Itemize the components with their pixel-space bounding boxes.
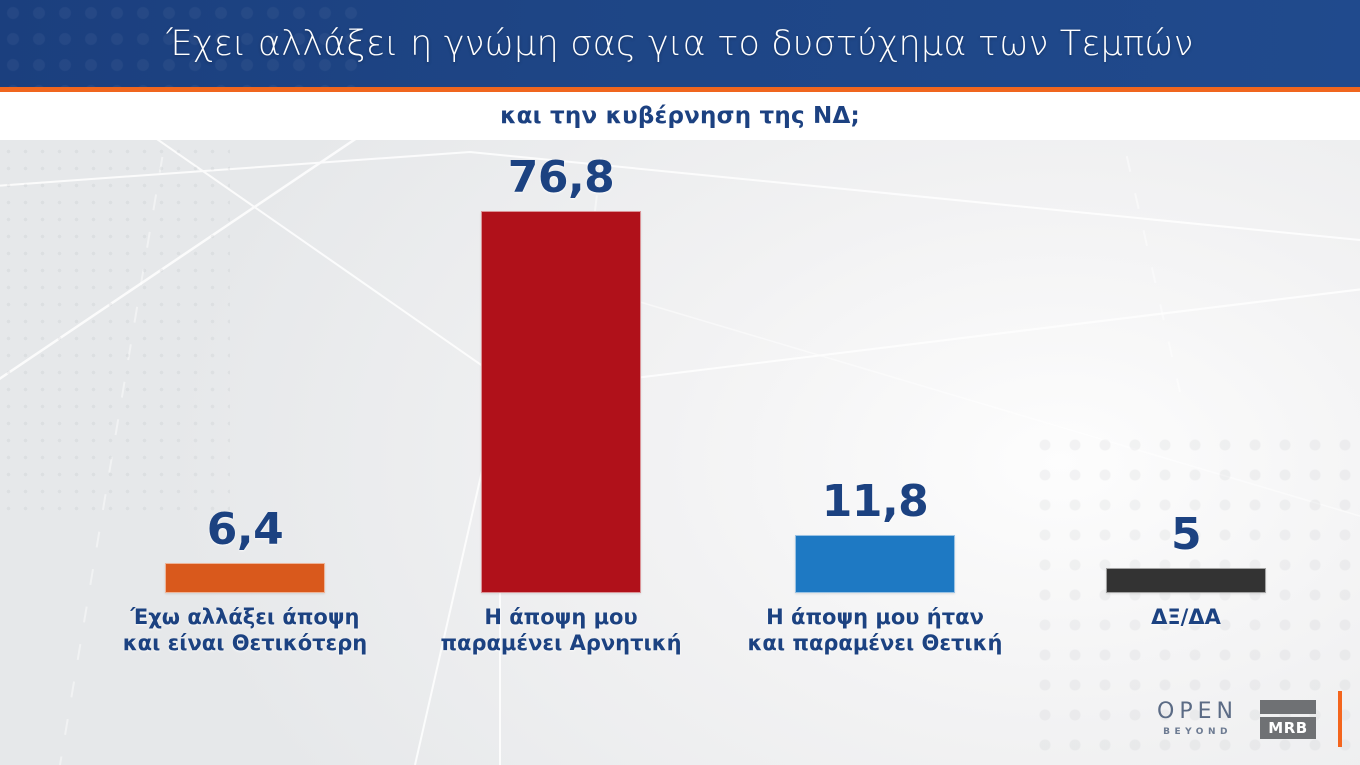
- open-logo-wordmark: OPEN: [1157, 701, 1238, 723]
- bar-category-label: Η άποψη μου ήταν και παραμένει Θετική: [725, 604, 1025, 657]
- poll-result-slide: Έχει αλλάξει η γνώμη σας για το δυστύχημ…: [0, 0, 1360, 765]
- bar-rect[interactable]: [795, 535, 955, 593]
- mrb-logo: MRB: [1260, 700, 1316, 739]
- bar-category-label: Η άποψη μου παραμένει Αρνητική: [411, 604, 711, 657]
- subtitle-band: και την κυβέρνηση της ΝΔ;: [0, 92, 1360, 140]
- footer-logo-strip: OPEN BEYOND MRB: [1157, 691, 1342, 747]
- bar-value-label: 11,8: [822, 480, 929, 524]
- bar-value-label: 76,8: [508, 156, 615, 200]
- open-beyond-logo: OPEN BEYOND: [1157, 701, 1238, 737]
- bar-value-label: 5: [1171, 513, 1201, 557]
- bar-group-dont-know: 5 ΔΞ/ΔΑ: [1036, 513, 1336, 593]
- bar-value-label: 6,4: [207, 508, 283, 552]
- bar-chart: 6,4 Έχω αλλάξει άποψη και είναι Θετικότε…: [0, 140, 1360, 765]
- mrb-logo-wordmark: MRB: [1260, 717, 1316, 739]
- bar-rect[interactable]: [165, 563, 325, 593]
- bar-group-remains-positive: 11,8 Η άποψη μου ήταν και παραμένει Θετι…: [725, 480, 1025, 593]
- open-logo-tagline: BEYOND: [1163, 728, 1232, 737]
- footer-orange-accent: [1338, 691, 1342, 747]
- page-title: Έχει αλλάξει η γνώμη σας για το δυστύχημ…: [0, 0, 1360, 87]
- bar-category-label: Έχω αλλάξει άποψη και είναι Θετικότερη: [95, 604, 395, 657]
- mrb-logo-bar: [1260, 700, 1316, 714]
- bar-group-remains-negative: 76,8 Η άποψη μου παραμένει Αρνητική: [411, 156, 711, 593]
- bar-group-positive-change: 6,4 Έχω αλλάξει άποψη και είναι Θετικότε…: [95, 508, 395, 593]
- bar-rect[interactable]: [481, 211, 641, 593]
- page-subtitle: και την κυβέρνηση της ΝΔ;: [500, 103, 860, 129]
- bar-category-label: ΔΞ/ΔΑ: [1036, 604, 1336, 630]
- bar-rect[interactable]: [1106, 568, 1266, 593]
